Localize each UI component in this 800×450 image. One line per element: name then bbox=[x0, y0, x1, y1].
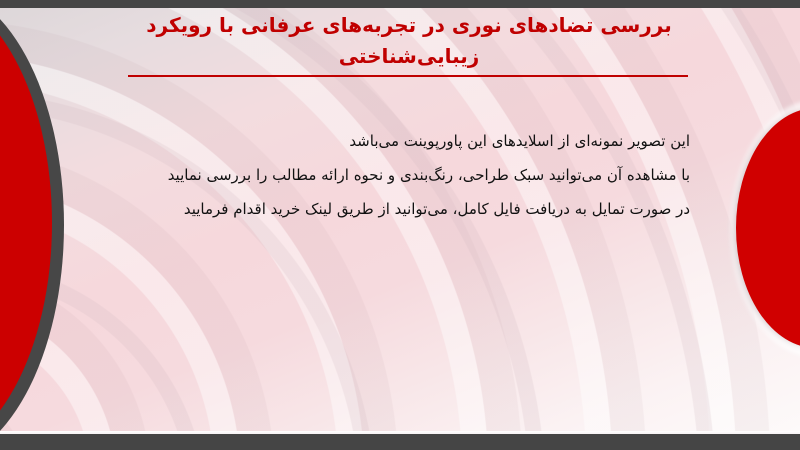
body-line-3: در صورت تمایل به دریافت فایل کامل، می‌تو… bbox=[70, 192, 690, 226]
presentation-slide: بررسی تضادهای نوری در تجربه‌های عرفانی ب… bbox=[0, 0, 800, 450]
slide-title-line-2: زیبایی‌شناختی bbox=[128, 41, 690, 72]
slide-title-line-1: بررسی تضادهای نوری در تجربه‌های عرفانی ب… bbox=[128, 10, 690, 41]
body-line-1: این تصویر نمونه‌ای از اسلایدهای این پاور… bbox=[70, 124, 690, 158]
body-line-2: با مشاهده آن می‌توانید سبک طراحی، رنگ‌بن… bbox=[70, 158, 690, 192]
frame-mask-top-left bbox=[0, 0, 140, 8]
frame-mask-bottom-left bbox=[0, 434, 160, 450]
slide-title: بررسی تضادهای نوری در تجربه‌های عرفانی ب… bbox=[128, 10, 690, 72]
slide-body-text: این تصویر نمونه‌ای از اسلایدهای این پاور… bbox=[70, 124, 690, 226]
title-divider-rule bbox=[128, 75, 688, 77]
